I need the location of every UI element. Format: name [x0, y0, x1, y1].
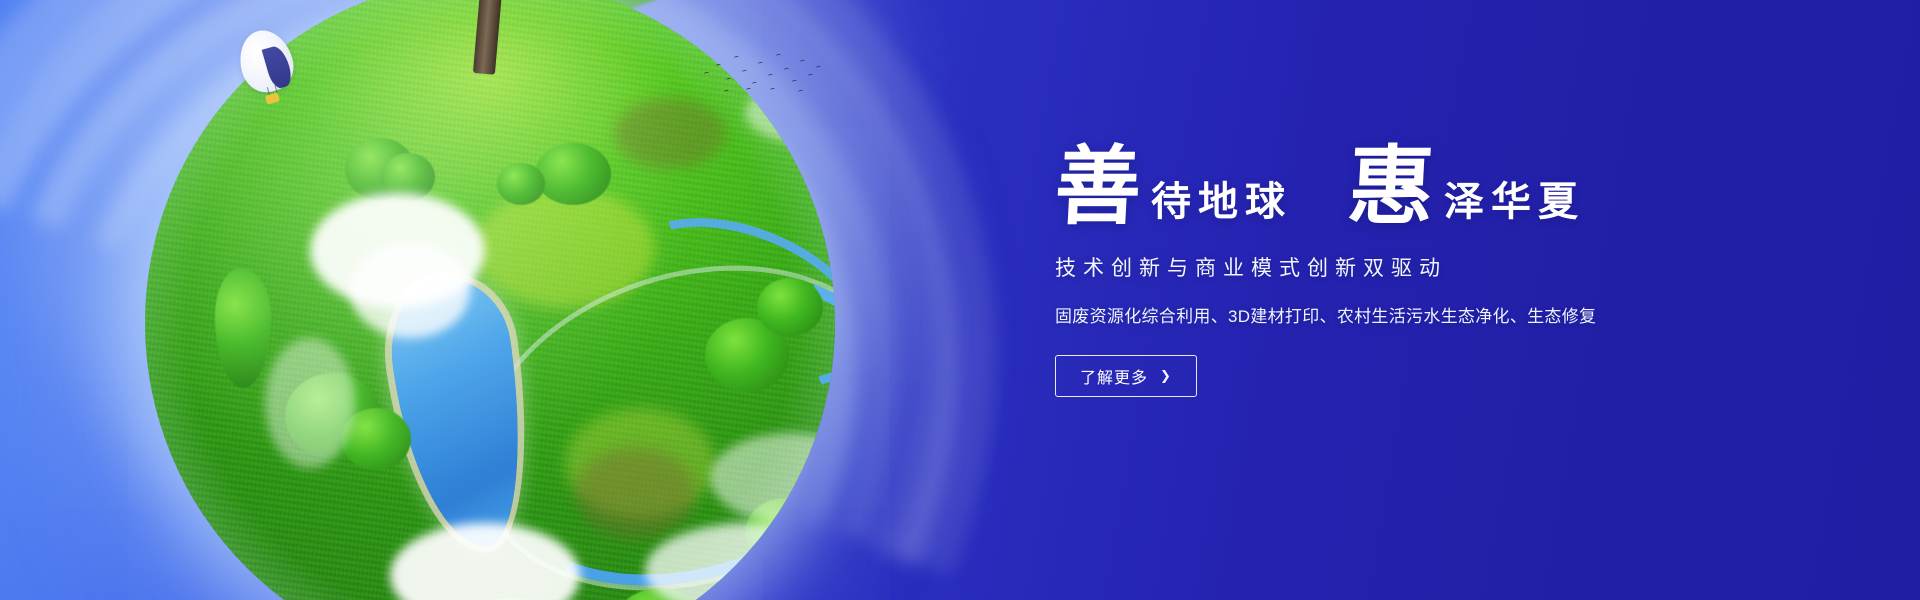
tree-cluster	[705, 318, 789, 392]
tree-cluster	[341, 408, 411, 470]
planet-cloud	[390, 523, 580, 600]
headline-small-text-2: 泽华夏	[1444, 182, 1585, 228]
planet-cloud	[310, 193, 485, 308]
soil-patch	[395, 538, 545, 600]
chevron-right-icon: ❯	[1160, 369, 1172, 382]
balloon-basket	[265, 92, 280, 104]
soil-patch	[615, 98, 725, 168]
planet-cloud	[645, 523, 835, 600]
river-branch	[596, 185, 835, 421]
lake	[382, 271, 538, 555]
tree-cluster	[615, 588, 707, 600]
tree-cluster	[497, 163, 545, 205]
hero-banner: 善 待地球 惠 泽华夏 技术创新与商业模式创新双驱动 固废资源化综合利用、3D建…	[0, 0, 1920, 600]
bird-flock-icon	[700, 50, 830, 96]
page-title: 善 待地球 惠 泽华夏	[1055, 146, 1715, 228]
headline-small-text-1: 待地球	[1151, 182, 1292, 228]
planet-cloud	[350, 243, 470, 338]
tree-cluster	[215, 268, 271, 388]
page-tagline: 固废资源化综合利用、3D建材打印、农村生活污水生态净化、生态修复	[1055, 302, 1715, 327]
planet-cloud	[265, 338, 355, 468]
meadow-patch	[475, 188, 655, 308]
tree-cluster	[757, 278, 823, 336]
soil-patch	[575, 448, 695, 538]
learn-more-button[interactable]: 了解更多 ❯	[1055, 355, 1197, 397]
learn-more-label: 了解更多	[1080, 364, 1148, 388]
hot-air-balloon-icon	[240, 30, 292, 116]
meadow-patch	[565, 408, 715, 518]
page-subtitle: 技术创新与商业模式创新双驱动	[1055, 252, 1715, 282]
tree-cluster	[345, 138, 415, 200]
tree-cluster	[381, 153, 435, 201]
headline-big-char-1: 善	[1053, 146, 1143, 228]
tree-cluster	[535, 143, 611, 205]
tree-cluster	[285, 373, 381, 459]
headline-group-2: 惠 泽华夏	[1348, 146, 1585, 228]
headline-group-1: 善 待地球	[1055, 146, 1292, 228]
planet-cloud	[710, 433, 835, 523]
headline-big-char-2: 惠	[1346, 146, 1436, 228]
hero-copy: 善 待地球 惠 泽华夏 技术创新与商业模式创新双驱动 固废资源化综合利用、3D建…	[1055, 146, 1715, 397]
